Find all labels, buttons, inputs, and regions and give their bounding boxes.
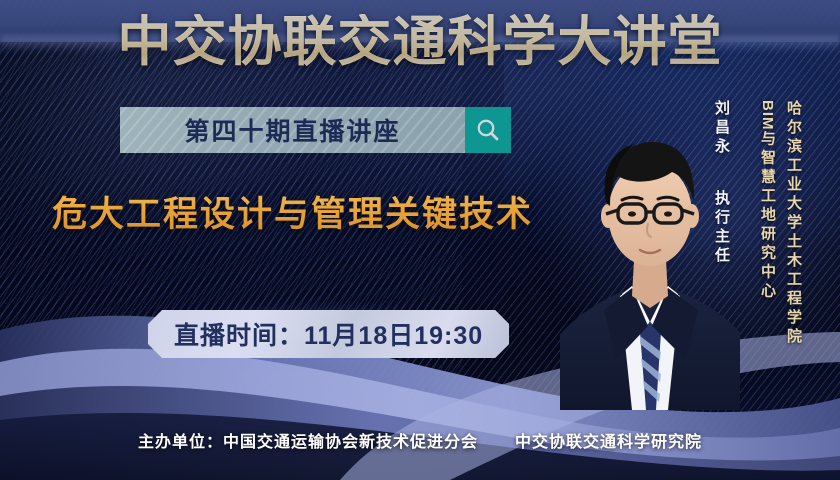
poster-canvas: 中交协联交通科学大讲堂 第四十期直播讲座 危大工程设计与管理关键技术 直播时间：… (0, 0, 840, 480)
search-icon (475, 117, 501, 143)
episode-bar: 第四十期直播讲座 (120, 107, 465, 153)
speaker-org-line1: 哈尔滨工业大学土木工程学院 (783, 100, 804, 347)
search-button[interactable] (465, 107, 511, 153)
speaker-name: 刘昌永 (711, 100, 732, 157)
speaker-org-bim-label: BIM (759, 100, 776, 131)
footer-organizer-primary: 主办单位：中国交通运输协会新技术促进分会 (138, 434, 478, 451)
footer-organizer-secondary: 中交协联交通科学研究院 (515, 434, 702, 451)
speaker-role: 执行主任 (711, 190, 732, 266)
speaker-org-line2: BIM与智慧工地研究中心 (757, 100, 780, 302)
lecture-topic: 危大工程设计与管理关键技术 (52, 186, 533, 237)
footer-organizers: 主办单位：中国交通运输协会新技术促进分会 中交协联交通科学研究院 (0, 428, 840, 452)
page-title: 中交协联交通科学大讲堂 (0, 14, 840, 71)
live-time-badge: 直播时间：11月18日19:30 (148, 310, 509, 358)
episode-label: 第四十期直播讲座 (184, 112, 400, 148)
speaker-org-line2-cjk: 与智慧工地研究中心 (759, 131, 776, 302)
